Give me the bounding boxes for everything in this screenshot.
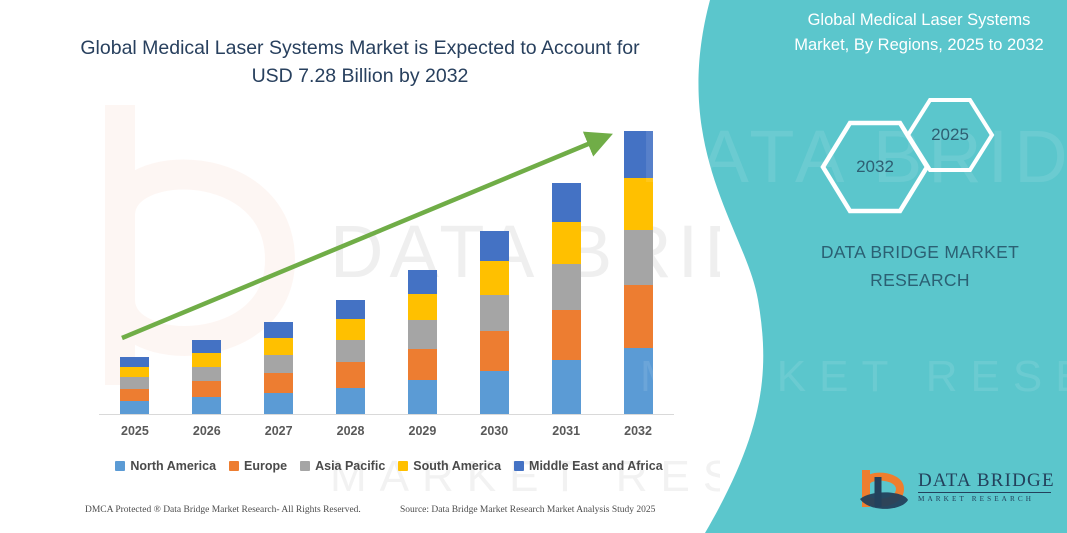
bar-segment <box>408 294 437 320</box>
logo-mark-icon <box>856 467 916 517</box>
bar-segment <box>408 349 437 381</box>
bar-segment <box>624 285 653 347</box>
infographic-canvas: DATA BRIDGE MARKET RESEARCH Global Medic… <box>0 0 1067 533</box>
bar-2029 <box>408 270 437 415</box>
bar-segment <box>120 357 149 366</box>
brand-panel-content: DATA BRIDGE MARKET RESEARCH Global Medic… <box>660 0 1067 533</box>
bar-segment <box>480 331 509 371</box>
chart-title: Global Medical Laser Systems Market is E… <box>60 34 660 90</box>
teal-watermark-line2: MARKET RESEARCH <box>640 355 1067 399</box>
x-axis-labels: 20252026202720282029203020312032 <box>99 424 674 444</box>
bar-segment <box>336 319 365 340</box>
bar-2031 <box>552 183 581 415</box>
legend-swatch-icon <box>514 461 524 471</box>
bar-segment <box>192 353 221 367</box>
legend-item[interactable]: Middle East and Africa <box>514 459 663 473</box>
x-axis-line <box>99 414 674 415</box>
bar-segment <box>264 373 293 393</box>
x-axis-label-2028: 2028 <box>321 424 381 438</box>
bar-segment <box>264 393 293 415</box>
logo-subtitle: MARKET RESEARCH <box>918 495 1055 504</box>
footer-source: Source: Data Bridge Market Research Mark… <box>400 505 655 515</box>
bar-segment <box>120 401 149 415</box>
bar-segment <box>408 380 437 415</box>
x-axis-label-2026: 2026 <box>177 424 237 438</box>
bar-segment <box>480 261 509 295</box>
chart-panel: DATA BRIDGE MARKET RESEARCH Global Medic… <box>0 0 720 533</box>
legend-item[interactable]: Asia Pacific <box>300 459 385 473</box>
bar-segment <box>192 397 221 415</box>
bar-segment <box>480 295 509 331</box>
legend-label: North America <box>130 459 216 473</box>
x-axis-label-2030: 2030 <box>464 424 524 438</box>
hexagon-group: 2032 2025 <box>810 95 1060 220</box>
legend-swatch-icon <box>300 461 310 471</box>
bar-plot-area <box>99 120 674 415</box>
bar-segment <box>120 367 149 378</box>
bar-segment <box>192 367 221 382</box>
legend-item[interactable]: Europe <box>229 459 287 473</box>
bar-segment <box>264 355 293 373</box>
bar-2026 <box>192 340 221 415</box>
bar-segment <box>552 264 581 309</box>
bar-segment <box>192 381 221 397</box>
bar-segment <box>552 183 581 222</box>
x-axis-label-2031: 2031 <box>536 424 596 438</box>
bar-segment <box>336 340 365 362</box>
bar-segment <box>480 231 509 262</box>
bar-segment <box>552 360 581 415</box>
x-axis-label-2025: 2025 <box>105 424 165 438</box>
legend-item[interactable]: South America <box>398 459 501 473</box>
footer: DMCA Protected ® Data Bridge Market Rese… <box>0 505 700 527</box>
bar-segment <box>336 362 365 387</box>
bar-segment <box>408 320 437 348</box>
bar-2027 <box>264 322 293 415</box>
x-axis-label-2027: 2027 <box>249 424 309 438</box>
bar-segment <box>480 371 509 415</box>
legend-label: South America <box>413 459 501 473</box>
bar-segment <box>552 310 581 361</box>
x-axis-label-2029: 2029 <box>392 424 452 438</box>
brand-name: DATA BRIDGE MARKET RESEARCH <box>790 238 1050 294</box>
legend-item[interactable]: North America <box>115 459 216 473</box>
bar-segment <box>192 340 221 353</box>
legend-label: Middle East and Africa <box>529 459 663 473</box>
bar-segment <box>264 322 293 338</box>
brand-name-line1: DATA BRIDGE MARKET <box>821 242 1019 262</box>
logo-text: DATA BRIDGE MARKET RESEARCH <box>918 471 1055 504</box>
bar-segment <box>552 222 581 264</box>
legend-label: Asia Pacific <box>315 459 385 473</box>
bar-2028 <box>336 300 365 415</box>
company-logo: DATA BRIDGE MARKET RESEARCH <box>856 467 1056 519</box>
bar-segment <box>624 230 653 286</box>
bar-segment <box>336 388 365 415</box>
legend-swatch-icon <box>398 461 408 471</box>
bar-segment <box>336 300 365 319</box>
brand-panel-title: Global Medical Laser Systems Market, By … <box>778 8 1060 58</box>
bar-2030 <box>480 231 509 415</box>
logo-divider <box>918 492 1051 493</box>
bar-2025 <box>120 357 149 415</box>
bar-segment <box>264 338 293 355</box>
hexagon-2025-label: 2025 <box>910 125 990 145</box>
chart-legend: North AmericaEuropeAsia PacificSouth Ame… <box>99 456 679 476</box>
bar-segment <box>120 377 149 389</box>
footer-copyright: DMCA Protected ® Data Bridge Market Rese… <box>85 505 361 515</box>
legend-label: Europe <box>244 459 287 473</box>
brand-name-line2: RESEARCH <box>870 270 970 290</box>
logo-title: DATA BRIDGE <box>918 471 1055 491</box>
legend-swatch-icon <box>229 461 239 471</box>
brand-panel: DATA BRIDGE MARKET RESEARCH Global Medic… <box>660 0 1067 533</box>
bar-segment <box>408 270 437 294</box>
bar-segment <box>120 389 149 402</box>
legend-swatch-icon <box>115 461 125 471</box>
hexagon-2032-label: 2032 <box>835 157 915 177</box>
